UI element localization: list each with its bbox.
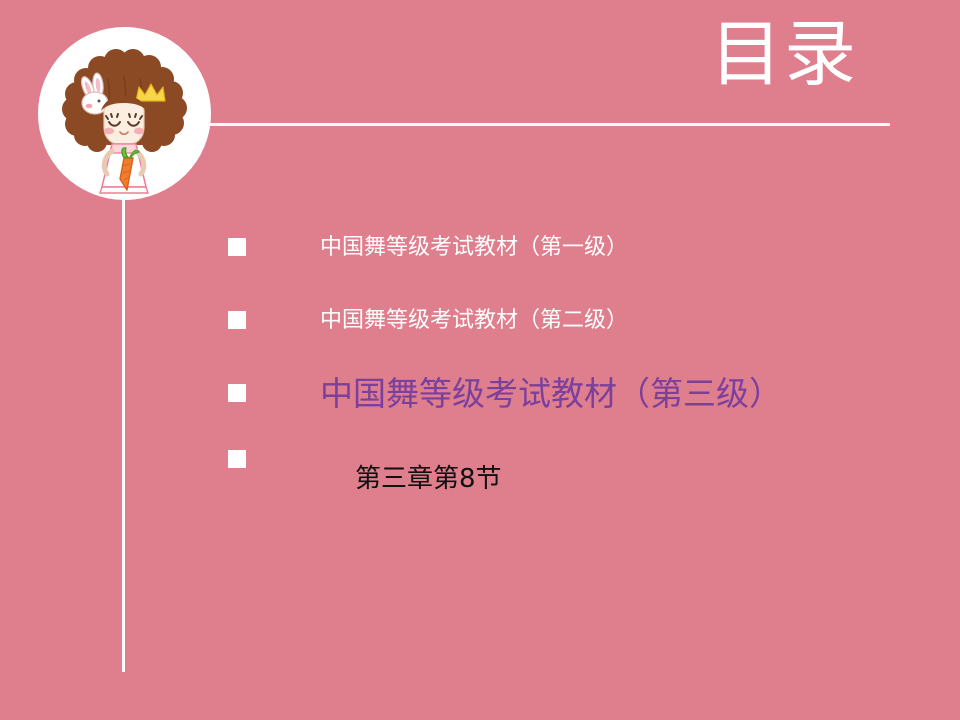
toc-item-label: 第三章第8节: [355, 458, 502, 495]
toc-item-label: 中国舞等级考试教材（第三级）: [320, 367, 782, 415]
square-bullet-icon: [228, 238, 246, 256]
square-bullet-icon: [228, 311, 246, 329]
toc-item-label: 中国舞等级考试教材（第一级）: [320, 229, 628, 261]
square-bullet-icon: [228, 384, 246, 402]
square-bullet-icon: [228, 450, 246, 468]
toc-item-label: 中国舞等级考试教材（第二级）: [320, 302, 628, 334]
presentation-slide: 目录: [0, 0, 960, 720]
table-of-contents: 中国舞等级考试教材（第一级） 中国舞等级考试教材（第二级） 中国舞等级考试教材（…: [0, 0, 960, 720]
